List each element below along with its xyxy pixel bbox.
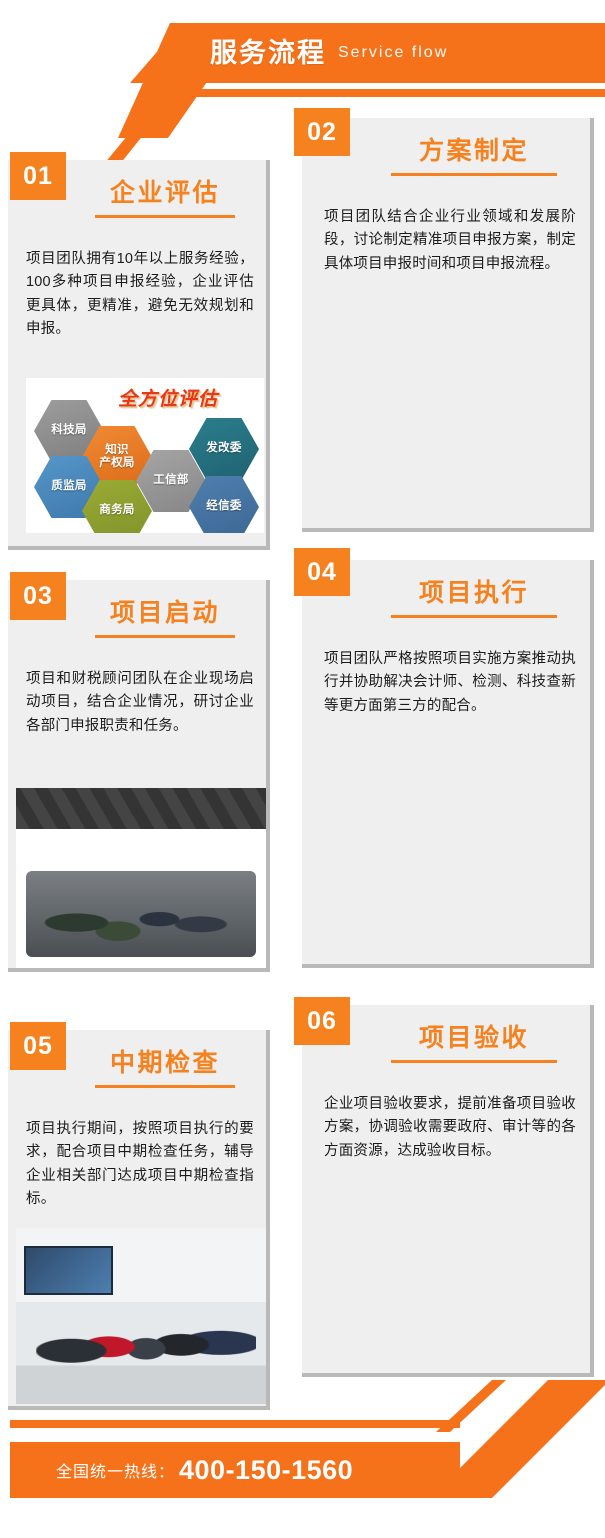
card-05-media-photo bbox=[16, 1228, 266, 1404]
flow-step-card-02[interactable]: 方案制定 项目团队结合企业行业领域和发展阶段，讨论制定精准项目申报方案，制定具体… bbox=[302, 118, 594, 532]
card-02-step-badge: 02 bbox=[294, 108, 350, 156]
header-underline bbox=[150, 89, 605, 97]
header-title-group: 服务流程 Service flow bbox=[210, 28, 605, 78]
card-06-title-row: 项目验收 bbox=[370, 1025, 578, 1063]
card-01-body: 项目团队拥有10年以上服务经验，100多种项目申报经验，企业评估更具体，更精准，… bbox=[26, 248, 254, 342]
card-03-title: 项目启动 bbox=[76, 600, 254, 628]
service-flow-page: 服务流程 Service flow 企业评估 项目团队拥有10年以上服务经验，1… bbox=[0, 0, 605, 1538]
page-title: 服务流程 bbox=[210, 40, 326, 67]
card-03-body: 项目和财税顾问团队在企业现场启动项目，结合企业情况，研讨企业各部门申报职责和任务… bbox=[26, 668, 254, 738]
card-02-title: 方案制定 bbox=[370, 138, 578, 166]
card-05-title-rule bbox=[95, 1085, 235, 1088]
card-01-title-row: 企业评估 bbox=[76, 180, 254, 218]
showroom-visit-photo bbox=[16, 1228, 266, 1404]
card-04-title-row: 项目执行 bbox=[370, 580, 578, 618]
card-05-body: 项目执行期间，按照项目执行的要求，配合项目中期检查任务，辅导企业相关部门达成项目… bbox=[26, 1118, 254, 1212]
card-05-title: 中期检查 bbox=[76, 1050, 254, 1078]
card-02-title-rule bbox=[391, 173, 557, 176]
page-subtitle: Service flow bbox=[338, 45, 448, 61]
conference-room-photo bbox=[16, 788, 266, 968]
card-06-title: 项目验收 bbox=[370, 1025, 578, 1053]
hex-evaluation-chart: 全方位评估 科技局 知识产权局 质监局 商务局 工信部 发改委 经信委 bbox=[26, 378, 264, 533]
hotline-group[interactable]: 全国统一热线： 400-150-1560 bbox=[56, 1442, 353, 1498]
card-03-media-photo bbox=[16, 788, 266, 968]
card-06-title-rule bbox=[391, 1060, 557, 1063]
card-06-step-badge: 06 bbox=[294, 997, 350, 1045]
card-05-title-row: 中期检查 bbox=[76, 1050, 254, 1088]
card-01-title: 企业评估 bbox=[76, 180, 254, 208]
card-01-media-hex-chart: 全方位评估 科技局 知识产权局 质监局 商务局 工信部 发改委 经信委 bbox=[26, 378, 264, 533]
flow-step-card-03[interactable]: 项目启动 项目和财税顾问团队在企业现场启动项目，结合企业情况，研讨企业各部门申报… bbox=[8, 580, 270, 972]
card-04-step-badge: 04 bbox=[294, 548, 350, 596]
card-06-body: 企业项目验收要求，提前准备项目验收方案，协调验收需要政府、审计等的各方面资源，达… bbox=[324, 1093, 576, 1163]
card-02-title-row: 方案制定 bbox=[370, 138, 578, 176]
card-03-title-row: 项目启动 bbox=[76, 600, 254, 638]
flow-step-card-01[interactable]: 企业评估 项目团队拥有10年以上服务经验，100多种项目申报经验，企业评估更具体… bbox=[8, 160, 270, 550]
card-03-title-rule bbox=[95, 635, 235, 638]
hotline-number[interactable]: 400-150-1560 bbox=[179, 1455, 353, 1486]
page-footer: 全国统一热线： 400-150-1560 bbox=[0, 1420, 605, 1538]
hotline-label: 全国统一热线： bbox=[56, 1458, 175, 1482]
card-01-step-badge: 01 bbox=[10, 152, 66, 200]
flow-step-card-04[interactable]: 项目执行 项目团队严格按照项目实施方案推动执行并协助解决会计师、检测、科技查新等… bbox=[302, 560, 594, 968]
footer-topline bbox=[10, 1420, 460, 1428]
flow-step-card-05[interactable]: 中期检查 项目执行期间，按照项目执行的要求，配合项目中期检查任务，辅导企业相关部… bbox=[8, 1030, 270, 1410]
card-02-body: 项目团队结合企业行业领域和发展阶段，讨论制定精准项目申报方案，制定具体项目申报时… bbox=[324, 206, 576, 276]
flow-step-card-06[interactable]: 项目验收 企业项目验收要求，提前准备项目验收方案，协调验收需要政府、审计等的各方… bbox=[302, 1005, 594, 1377]
hex-chart-title: 全方位评估 bbox=[118, 384, 218, 411]
page-header: 服务流程 Service flow bbox=[0, 0, 605, 118]
footer-chevron-shape bbox=[430, 1380, 605, 1498]
card-03-step-badge: 03 bbox=[10, 572, 66, 620]
card-01-title-rule bbox=[95, 215, 235, 218]
card-04-body: 项目团队严格按照项目实施方案推动执行并协助解决会计师、检测、科技查新等更方面第三… bbox=[324, 648, 576, 718]
card-04-title-rule bbox=[391, 615, 557, 618]
card-05-step-badge: 05 bbox=[10, 1022, 66, 1070]
card-04-title: 项目执行 bbox=[370, 580, 578, 608]
